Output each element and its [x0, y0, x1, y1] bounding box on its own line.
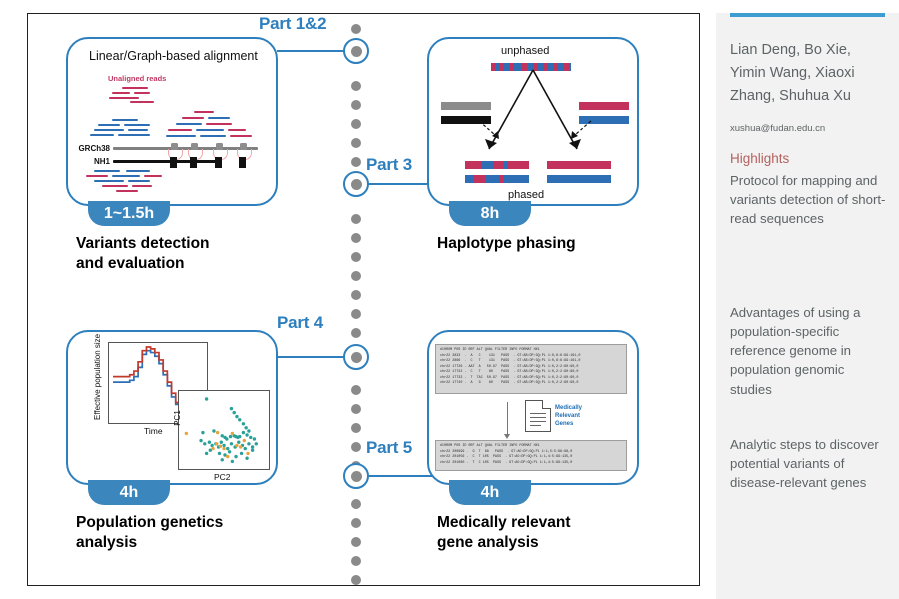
pca-point	[247, 442, 250, 445]
read-segment	[144, 175, 162, 177]
pca-plot	[178, 390, 270, 470]
read-segment	[122, 87, 148, 89]
pca-point	[233, 411, 236, 414]
connector-part4	[277, 356, 345, 358]
timeline-dot	[351, 404, 361, 414]
read-segment	[134, 92, 150, 94]
panel-alignment-title: Linear/Graph-based alignment	[89, 49, 258, 63]
panel-medical[interactable]: #CHROM POS ID REF ALT QUAL FILTER INFO F…	[427, 330, 639, 485]
pca-point	[234, 455, 237, 458]
phased-bar-mosaic-2	[465, 175, 529, 183]
timeline-spine	[349, 24, 363, 576]
pca-point	[219, 445, 222, 448]
flow-arrow-head	[504, 434, 510, 439]
unaligned-reads-label: Unaligned reads	[108, 74, 166, 83]
read-segment	[128, 180, 150, 182]
reference-line-nh1	[113, 160, 218, 163]
part-label-1: Part 1&2	[259, 14, 326, 34]
author-list: Lian Deng, Bo Xie, Yimin Wang, Xiaoxi Zh…	[730, 39, 890, 108]
pca-point	[229, 435, 232, 438]
vcf-table-all: #CHROM POS ID REF ALT QUAL FILTER INFO F…	[435, 344, 627, 394]
timeline-dot	[351, 100, 361, 110]
phased-label: phased	[508, 189, 544, 201]
highlight-item-2: Advantages of using a population-specifi…	[730, 303, 888, 399]
read-segment	[94, 180, 124, 182]
part-label-3: Part 3	[366, 155, 412, 175]
duration-badge-medical: 4h	[449, 480, 531, 505]
timeline-dot	[351, 499, 361, 509]
highlight-item-3: Analytic steps to discover potential var…	[730, 435, 888, 492]
phased-bar-clean-2	[547, 175, 611, 183]
pca-point	[208, 441, 211, 444]
read-segment	[112, 119, 138, 121]
pca-point	[221, 458, 224, 461]
pca-point	[205, 452, 208, 455]
timeline-dot	[351, 556, 361, 566]
read-segment	[176, 123, 202, 125]
read-segment	[208, 117, 230, 119]
timeline-dot	[351, 442, 361, 452]
timeline-dot	[351, 271, 361, 281]
pca-point	[237, 441, 240, 444]
timeline-dot	[351, 138, 361, 148]
timeline-dot	[351, 423, 361, 433]
timeline-dot	[351, 518, 361, 528]
read-segment	[228, 129, 246, 131]
pca-point	[246, 452, 249, 455]
panel-popgen[interactable]: Effective population size Time PC1 PC2	[66, 330, 278, 485]
timeline-dot	[351, 214, 361, 224]
pca-point	[215, 442, 218, 445]
caption-popgen: Population genetics analysis	[76, 513, 223, 553]
pca-point	[203, 442, 206, 445]
pca-point	[231, 432, 234, 435]
sidebar-top-rule	[730, 13, 885, 17]
pca-point	[228, 450, 231, 453]
read-segment	[194, 111, 214, 113]
read-segment	[126, 170, 150, 172]
pca-point	[249, 436, 252, 439]
pca-point	[242, 422, 245, 425]
read-segment	[112, 92, 130, 94]
contact-email[interactable]: xushua@fudan.edu.cn	[730, 123, 895, 134]
part-label-4: Part 4	[277, 313, 323, 333]
pca-point	[222, 444, 225, 447]
read-segment	[102, 185, 128, 187]
pca-point	[201, 431, 204, 434]
timeline-dot	[351, 81, 361, 91]
timeline-dot	[351, 252, 361, 262]
read-segment	[98, 124, 120, 126]
part-label-5: Part 5	[366, 438, 412, 458]
pca-point	[251, 449, 254, 452]
highlights-heading: Highlights	[730, 151, 789, 166]
graphical-abstract: Part 1&2 Part 3 Part 4 Part 5 Linear/Gra…	[0, 0, 899, 599]
pca-point	[212, 429, 215, 432]
read-segment	[109, 97, 139, 99]
pca-point	[225, 437, 228, 440]
allele-bar	[190, 157, 197, 168]
read-segment	[112, 175, 140, 177]
timeline-dot	[351, 328, 361, 338]
pca-point	[235, 415, 238, 418]
pca-point	[242, 431, 245, 434]
pca-point	[240, 452, 243, 455]
panel-alignment[interactable]: Linear/Graph-based alignment Unaligned r…	[66, 37, 278, 206]
duration-badge-popgen: 4h	[88, 480, 170, 505]
connector-part5	[367, 475, 433, 477]
pca-point	[216, 431, 219, 434]
document-icon	[525, 400, 551, 432]
pca-point	[238, 435, 241, 438]
connector-part3	[367, 183, 433, 185]
read-segment	[86, 175, 108, 177]
read-segment	[206, 123, 232, 125]
pca-point	[231, 460, 234, 463]
pca-point	[244, 447, 247, 450]
pca-point	[205, 397, 208, 400]
read-segment	[116, 190, 138, 192]
pca-point	[185, 432, 188, 435]
phased-bar-mosaic-1	[465, 161, 529, 169]
read-segment	[94, 129, 124, 131]
pca-points	[179, 391, 271, 471]
pca-point	[253, 437, 256, 440]
pca-point	[220, 441, 223, 444]
pca-point	[226, 447, 229, 450]
highlight-item-1: Protocol for mapping and variants detect…	[730, 171, 888, 228]
reference-label-grch38: GRCh38	[68, 144, 110, 153]
timeline-dot	[351, 385, 361, 395]
read-segment	[94, 170, 120, 172]
pca-point	[222, 447, 225, 450]
timeline-dot	[351, 575, 361, 585]
read-segment	[196, 129, 224, 131]
timeline-dot	[351, 157, 361, 167]
pca-point	[245, 457, 248, 460]
read-segment	[128, 129, 148, 131]
read-segment	[168, 129, 192, 131]
pca-point	[247, 429, 250, 432]
pca-point	[230, 407, 233, 410]
read-segment	[166, 135, 196, 137]
read-segment	[90, 134, 114, 136]
psmc-ylabel: Effective population size	[94, 340, 103, 420]
read-segment	[230, 135, 252, 137]
flow-arrow-line	[507, 402, 508, 436]
pca-point	[239, 445, 242, 448]
caption-medical: Medically relevant gene analysis	[437, 513, 571, 553]
caption-phasing: Haplotype phasing	[437, 234, 576, 254]
pca-point	[245, 433, 248, 436]
pca-point	[199, 439, 202, 442]
pca-point	[210, 444, 213, 447]
sidebar: Lian Deng, Bo Xie, Yimin Wang, Xiaoxi Zh…	[716, 13, 899, 599]
read-segment	[200, 135, 226, 137]
read-segment	[118, 134, 150, 136]
vcf-table-filtered: #CHROM POS ID REF ALT QUAL FILTER INFO F…	[435, 440, 627, 471]
pca-ylabel: PC1	[174, 398, 183, 438]
timeline-dot	[351, 290, 361, 300]
read-segment	[124, 124, 150, 126]
timeline-dot	[351, 119, 361, 129]
pca-point	[244, 426, 247, 429]
timeline-dot	[351, 233, 361, 243]
duration-badge-alignment: 1~1.5h	[88, 201, 170, 226]
read-segment	[132, 185, 152, 187]
phased-bar-clean-1	[547, 161, 611, 169]
pca-point	[218, 452, 221, 455]
read-segment	[130, 101, 154, 103]
pca-point	[235, 444, 238, 447]
timeline-node-part5[interactable]	[343, 463, 369, 489]
timeline-dot	[351, 309, 361, 319]
allele-bar	[170, 157, 177, 168]
timeline-node-part1[interactable]	[343, 38, 369, 64]
pca-point	[255, 442, 258, 445]
panel-phasing[interactable]: unphased	[427, 37, 639, 206]
timeline-dot	[351, 537, 361, 547]
connector-part1	[277, 50, 345, 52]
duration-badge-phasing: 8h	[449, 201, 531, 226]
pca-xlabel: PC2	[214, 472, 231, 482]
pca-point	[211, 447, 214, 450]
pca-point	[230, 442, 233, 445]
timeline-node-part4[interactable]	[343, 344, 369, 370]
timeline-dot	[351, 24, 361, 34]
reference-label-nh1: NH1	[68, 157, 110, 166]
allele-bar	[239, 157, 246, 168]
allele-bar	[215, 157, 222, 168]
read-segment	[182, 117, 204, 119]
pca-point	[226, 455, 229, 458]
pca-point	[243, 439, 246, 442]
pca-point	[251, 445, 254, 448]
psmc-xlabel: Time	[144, 426, 163, 436]
document-icon-label: Medically Relevant Genes	[555, 404, 582, 428]
pca-point	[238, 418, 241, 421]
caption-alignment: Variants detection and evaluation	[76, 234, 210, 274]
